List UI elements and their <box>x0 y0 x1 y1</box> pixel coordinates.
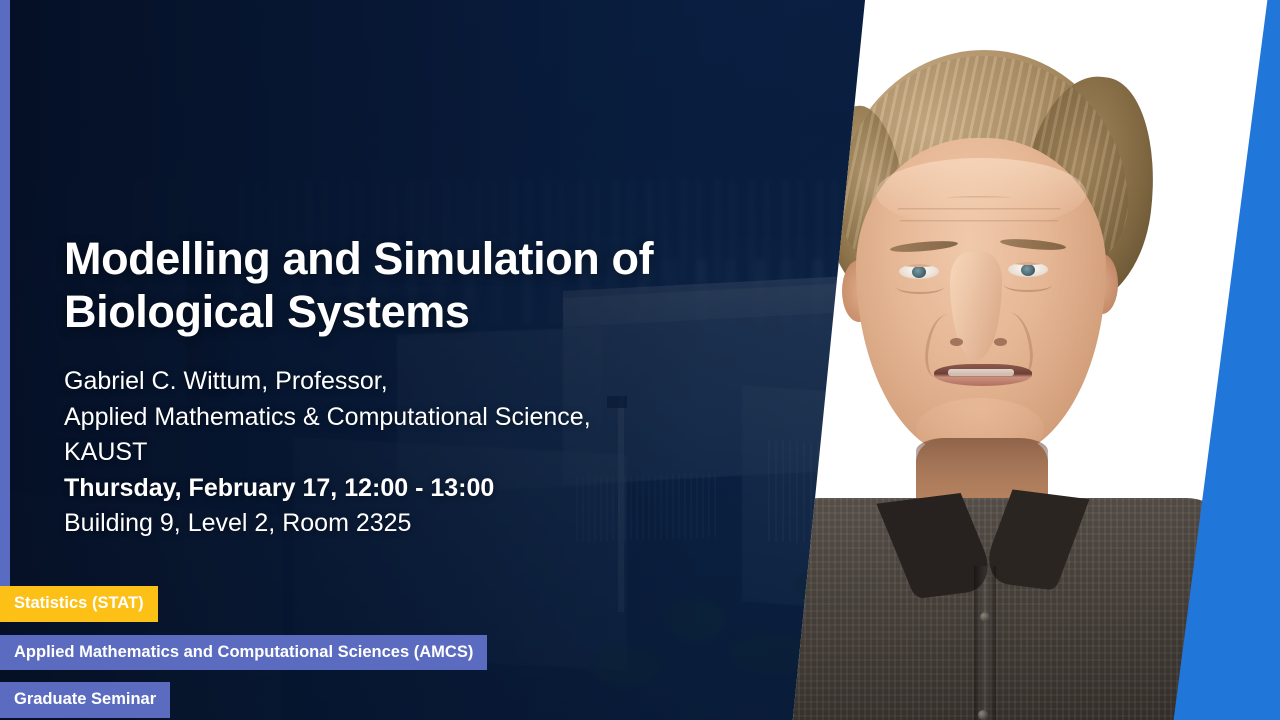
shirt-placket <box>974 566 996 720</box>
tag-gap <box>0 670 487 682</box>
shirt-button <box>978 710 988 720</box>
neck-shadow <box>916 438 1048 498</box>
tag-gap <box>0 622 487 635</box>
eyelid-left <box>899 264 939 267</box>
slide-text-content: Modelling and Simulation of Biological S… <box>64 232 764 542</box>
teeth <box>948 369 1014 376</box>
seminar-details: Gabriel C. Wittum, Professor, Applied Ma… <box>64 364 764 542</box>
eye-left <box>899 264 939 279</box>
forehead-wrinkles <box>894 196 1064 232</box>
speaker-name-role: Gabriel C. Wittum, Professor, <box>64 364 764 400</box>
under-eye-crease-right <box>1004 278 1052 292</box>
tag-statistics[interactable]: Statistics (STAT) <box>0 586 158 622</box>
speaker-institution: KAUST <box>64 435 764 471</box>
tag-row-amcs: Applied Mathematics and Computational Sc… <box>0 635 487 671</box>
page-title: Modelling and Simulation of Biological S… <box>64 232 764 338</box>
left-accent-bar <box>0 0 10 586</box>
tag-amcs[interactable]: Applied Mathematics and Computational Sc… <box>0 635 487 671</box>
under-eye-crease-left <box>896 280 944 294</box>
speaker-affiliation: Applied Mathematics & Computational Scie… <box>64 400 764 436</box>
eyelid-right <box>1008 262 1048 265</box>
tag-row-graduate-seminar: Graduate Seminar <box>0 682 487 718</box>
seminar-location: Building 9, Level 2, Room 2325 <box>64 506 764 542</box>
tag-list: Statistics (STAT) Applied Mathematics an… <box>0 586 487 718</box>
iris-right <box>1021 264 1035 276</box>
speaker-portrait <box>798 46 1188 720</box>
seminar-datetime: Thursday, February 17, 12:00 - 13:00 <box>64 471 764 507</box>
tag-graduate-seminar[interactable]: Graduate Seminar <box>0 682 170 718</box>
iris-left <box>912 266 926 278</box>
tag-row-statistics: Statistics (STAT) <box>0 586 487 622</box>
eye-right <box>1008 262 1048 277</box>
seminar-announcement-slide: Modelling and Simulation of Biological S… <box>0 0 1280 720</box>
shirt-button <box>980 612 990 622</box>
